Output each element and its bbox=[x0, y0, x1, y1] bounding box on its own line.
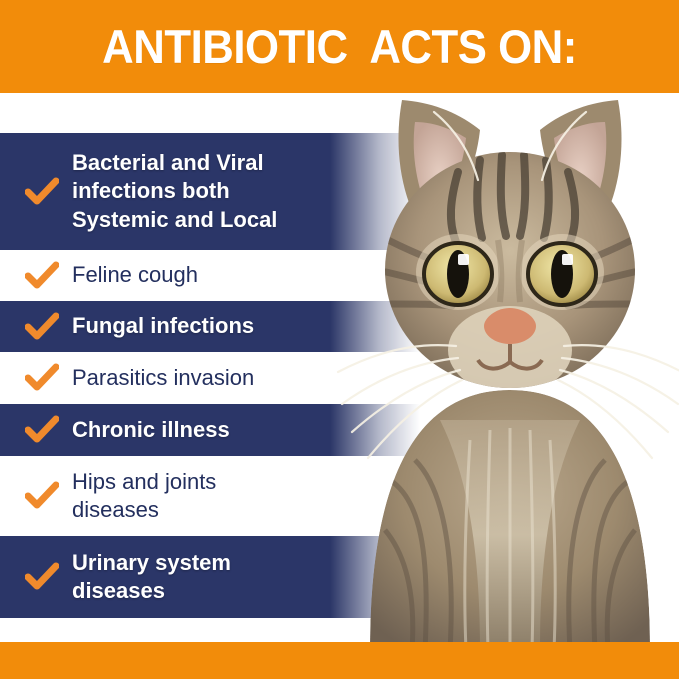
benefit-item: Hips and joints diseases bbox=[0, 456, 420, 536]
benefit-item: Urinary system diseases bbox=[0, 536, 420, 618]
check-icon bbox=[22, 481, 62, 511]
benefit-item-label: Chronic illness bbox=[72, 416, 420, 444]
benefit-item-label: Urinary system diseases bbox=[72, 549, 420, 605]
check-icon bbox=[22, 312, 62, 342]
benefit-item: Bacterial and Viral infections both Syst… bbox=[0, 133, 420, 250]
benefit-item-label: Fungal infections bbox=[72, 312, 420, 340]
footer-bar bbox=[0, 642, 679, 679]
header-bar: ANTIBIOTIC ACTS ON: bbox=[0, 0, 679, 93]
check-icon bbox=[22, 415, 62, 445]
check-icon bbox=[22, 562, 62, 592]
benefit-band-list: Bacterial and Viral infections both Syst… bbox=[0, 93, 679, 642]
page-title: ANTIBIOTIC ACTS ON: bbox=[24, 0, 655, 93]
check-icon bbox=[22, 177, 62, 207]
check-icon bbox=[22, 363, 62, 393]
benefit-item: Feline cough bbox=[0, 250, 420, 301]
benefit-item-label: Parasitics invasion bbox=[72, 364, 420, 392]
benefit-item: Fungal infections bbox=[0, 301, 420, 352]
antibiotic-infographic: Bacterial and Viral infections both Syst… bbox=[0, 0, 679, 679]
benefit-item-label: Hips and joints diseases bbox=[72, 468, 420, 524]
benefit-item: Parasitics invasion bbox=[0, 352, 420, 404]
check-icon bbox=[22, 261, 62, 291]
benefit-item: Chronic illness bbox=[0, 404, 420, 456]
benefit-item-label: Bacterial and Viral infections both Syst… bbox=[72, 149, 420, 233]
benefit-item-label: Feline cough bbox=[72, 261, 420, 289]
